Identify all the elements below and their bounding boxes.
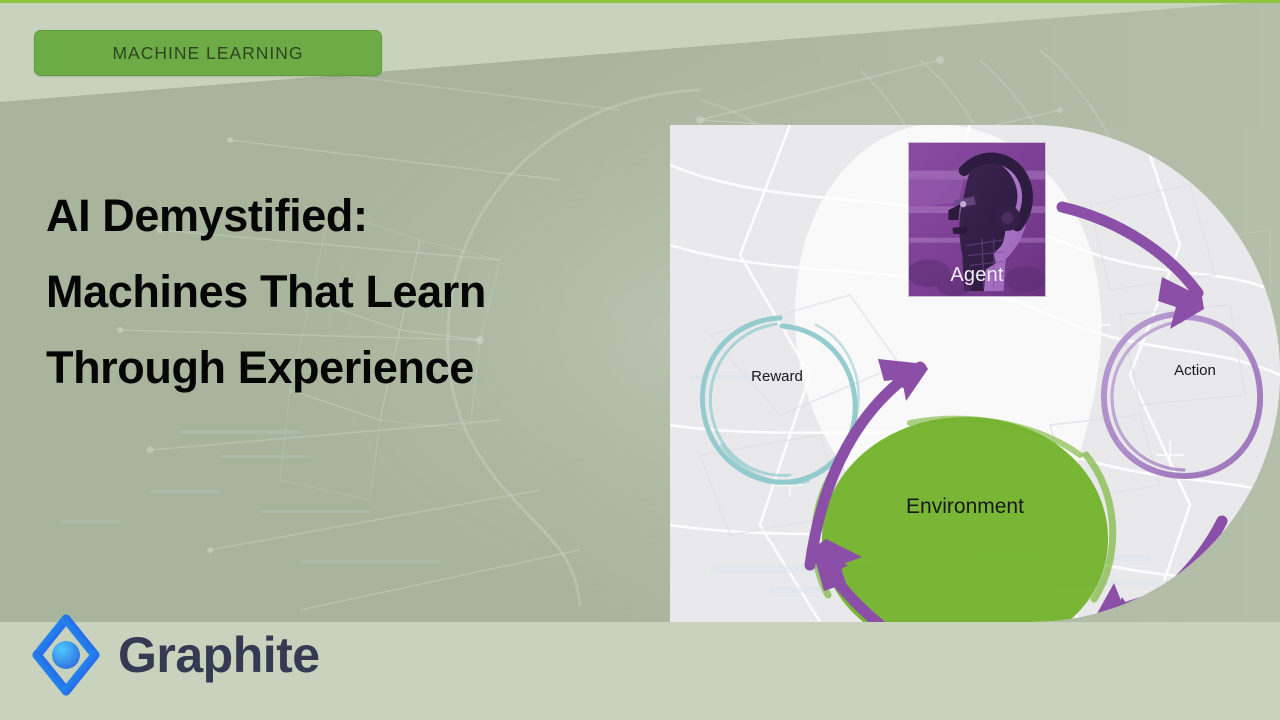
- page-title: AI Demystified: Machines That Learn Thro…: [46, 178, 656, 406]
- agent-node-label: Agent: [909, 264, 1045, 287]
- title-line-3: Through Experience: [46, 330, 656, 406]
- arrow-agent-to-action: [1062, 207, 1204, 329]
- title-line-1: AI Demystified:: [46, 178, 656, 254]
- agent-node-tile: Agent: [908, 142, 1046, 297]
- action-node-label: Action: [1140, 362, 1250, 379]
- graphite-wordmark: Graphite: [118, 630, 320, 680]
- graphite-diamond-icon: [28, 612, 104, 698]
- graphite-logo[interactable]: Graphite: [28, 612, 320, 698]
- slide-canvas: MACHINE LEARNING AI Demystified: Machine…: [0, 0, 1280, 720]
- reward-node-label: Reward: [722, 368, 832, 385]
- category-badge[interactable]: MACHINE LEARNING: [34, 30, 382, 76]
- top-accent-rule: [0, 0, 1280, 3]
- environment-node-label: Environment: [855, 495, 1075, 519]
- title-line-2: Machines That Learn: [46, 254, 656, 330]
- action-node-ring: [1104, 314, 1260, 476]
- environment-node-circle: [815, 417, 1113, 622]
- reinforcement-learning-diagram: Agent Reward Action Environment: [670, 125, 1280, 622]
- category-badge-label: MACHINE LEARNING: [112, 43, 303, 64]
